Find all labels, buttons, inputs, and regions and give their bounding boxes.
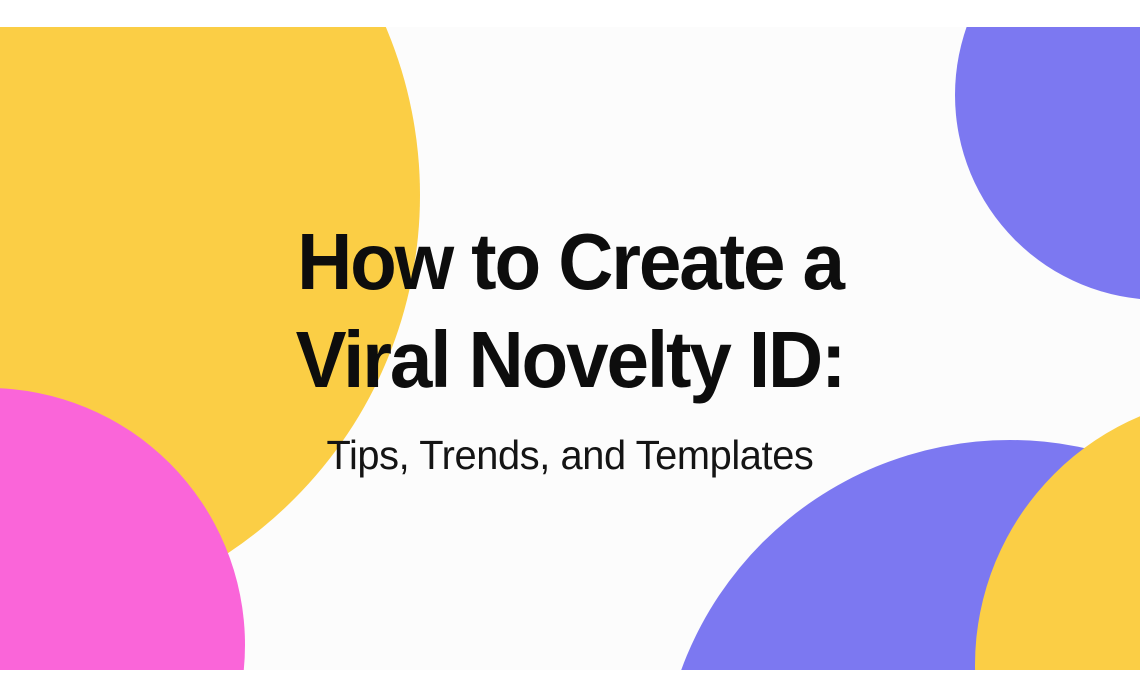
page-title: How to Create a Viral Novelty ID: (0, 213, 1140, 409)
title-slide: How to Create a Viral Novelty ID: Tips, … (0, 0, 1140, 700)
slide-content: How to Create a Viral Novelty ID: Tips, … (0, 27, 1140, 670)
page-title-line-1: How to Create a (26, 213, 1115, 311)
page-subtitle: Tips, Trends, and Templates (0, 429, 1140, 481)
page-title-line-2: Viral Novelty ID: (26, 311, 1115, 409)
page-subtitle-text: Tips, Trends, and Templates (327, 429, 814, 481)
slide-artboard: How to Create a Viral Novelty ID: Tips, … (0, 27, 1140, 670)
letterbox-band-top (0, 0, 1140, 27)
letterbox-band-bottom (0, 670, 1140, 700)
